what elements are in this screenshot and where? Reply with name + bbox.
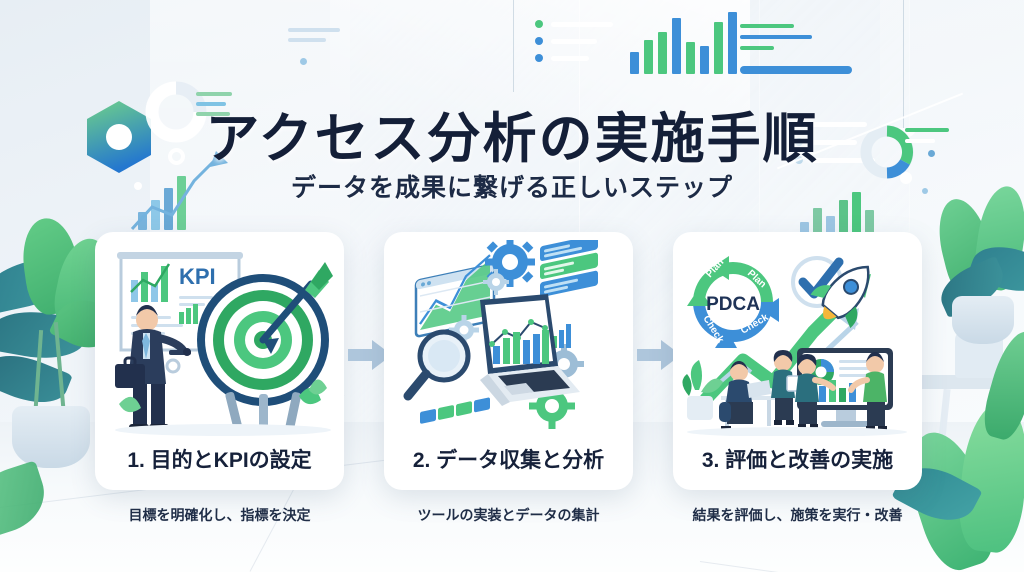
bullet-row (535, 54, 613, 62)
bullet-row (535, 20, 613, 28)
bullet-row (535, 37, 613, 45)
step-card-3-title: 3. 評価と改善の実施 (673, 444, 922, 474)
step-card-1-caption: 目標を明確化し、指標を決定 (95, 505, 344, 525)
step-card-2[interactable]: 2. データ収集と分析 (384, 232, 633, 490)
step-card-2-title: 2. データ収集と分析 (384, 444, 633, 474)
step-card-1[interactable]: KPI (95, 232, 344, 490)
line-list-topright (740, 24, 812, 50)
bar-chart-top (630, 12, 737, 74)
laptop-analytics-illustration (392, 240, 625, 436)
page-subtitle: データを成果に繋げる正しいステップ (0, 168, 1024, 204)
dot-topleft (300, 58, 307, 65)
line-bar-topright (740, 66, 852, 74)
presenter-target-illustration: KPI (103, 240, 336, 436)
step-card-1-title: 1. 目的とKPIの設定 (95, 444, 344, 474)
line-list-topleft (288, 28, 340, 42)
bullet-list-top (535, 20, 613, 62)
step-card-3-caption: 結果を評価し、施策を実行・改善 (673, 505, 922, 525)
step-card-2-caption: ツールの実装とデータの集計 (384, 505, 633, 525)
pdca-center-label: PDCA (706, 294, 760, 315)
step-card-3[interactable]: PDCA Plan Plan Check Check (673, 232, 922, 490)
pendant-cord-1 (513, 0, 514, 92)
kpi-label: KPI (179, 264, 216, 289)
pdca-team-illustration: PDCA Plan Plan Check Check (681, 240, 914, 436)
page-title: アクセス分析の実施手順 (0, 94, 1024, 173)
infographic-canvas: アクセス分析の実施手順 データを成果に繋げる正しいステップ KPI (0, 0, 1024, 572)
